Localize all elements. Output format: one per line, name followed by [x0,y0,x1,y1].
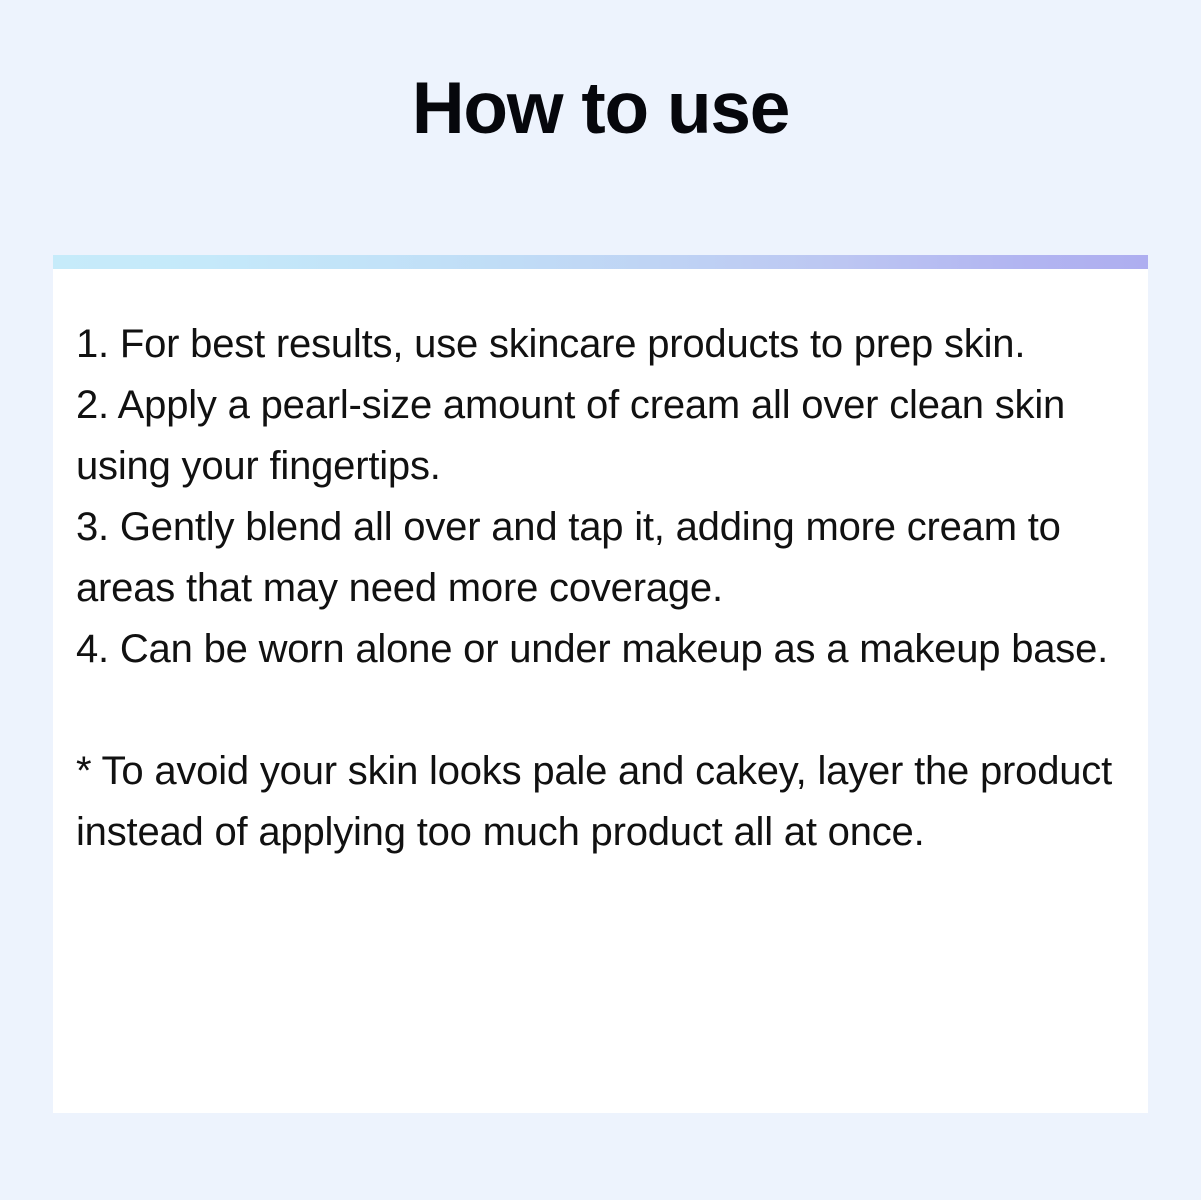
how-to-use-page: How to use 1. For best results, use skin… [0,0,1201,1200]
usage-note-text: * To avoid your skin looks pale and cake… [76,741,1120,863]
instructions-card: 1. For best results, use skincare produc… [53,255,1148,1113]
page-title: How to use [0,72,1201,145]
instructions-text: 1. For best results, use skincare produc… [76,314,1120,680]
paragraph-spacer [76,680,1120,741]
gradient-accent-bar [53,255,1148,269]
card-body: 1. For best results, use skincare produc… [53,269,1148,863]
